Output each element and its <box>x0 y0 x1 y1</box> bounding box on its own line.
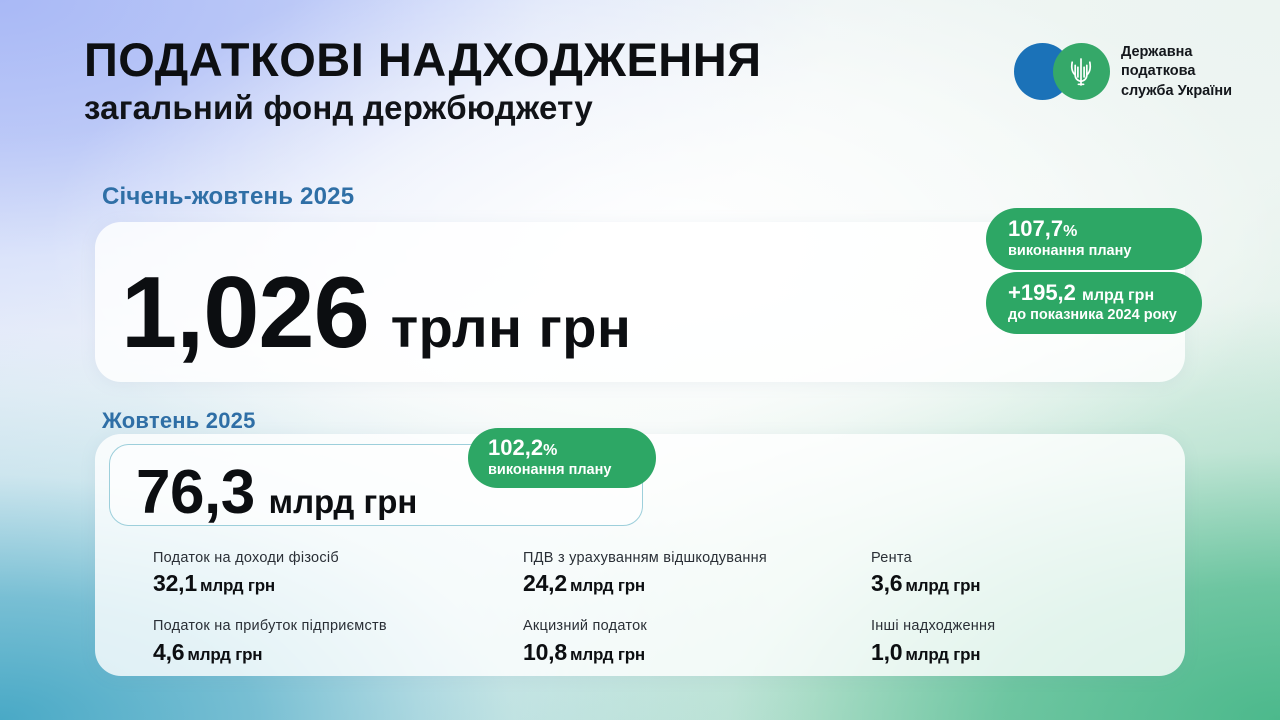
breakdown-label: Податок на прибуток підприємств <box>153 618 513 635</box>
october-plan-execution-badge: 102,2% виконання плану <box>468 428 656 488</box>
organization-name-line2: податкова <box>1121 62 1232 81</box>
ytd-growth-badge: +195,2 млрд грн до показника 2024 року <box>986 272 1202 334</box>
breakdown-number: 1,0 <box>871 639 902 665</box>
october-unit: млрд грн <box>269 483 418 521</box>
breakdown-label: Податок на доходи фізосіб <box>153 550 513 567</box>
ytd-growth-value: +195,2 млрд грн <box>1008 281 1180 305</box>
breakdown-unit: млрд грн <box>570 645 645 664</box>
breakdown-unit: млрд грн <box>570 576 645 595</box>
october-value: 76,3 <box>136 462 255 524</box>
breakdown-number: 4,6 <box>153 639 184 665</box>
ytd-growth-caption: до показника 2024 року <box>1008 307 1180 324</box>
ytd-plan-execution-caption: виконання плану <box>1008 243 1180 260</box>
october-breakdown-grid: Податок на доходи фізосіб 32,1млрд грн П… <box>153 550 1159 665</box>
ytd-plan-execution-number: 107,7 <box>1008 216 1063 241</box>
page-title: ПОДАТКОВІ НАДХОДЖЕННЯ <box>84 36 984 85</box>
breakdown-item: Податок на прибуток підприємств 4,6млрд … <box>153 618 523 665</box>
breakdown-item: Рента 3,6млрд грн <box>871 550 1159 597</box>
breakdown-number: 3,6 <box>871 570 902 596</box>
breakdown-unit: млрд грн <box>905 576 980 595</box>
ytd-growth-number: +195,2 <box>1008 280 1076 305</box>
breakdown-item: Податок на доходи фізосіб 32,1млрд грн <box>153 550 523 597</box>
breakdown-item: Акцизний податок 10,8млрд грн <box>523 618 871 665</box>
organization-name-line1: Державна <box>1121 43 1232 62</box>
breakdown-value: 4,6млрд грн <box>153 640 513 666</box>
breakdown-label: Рента <box>871 550 1149 567</box>
breakdown-label: Інші надходження <box>871 618 1149 635</box>
breakdown-label: ПДВ з урахуванням відшкодування <box>523 550 861 567</box>
organization-name: Державна податкова служба України <box>1121 43 1232 101</box>
october-section-label: Жовтень 2025 <box>102 408 256 434</box>
trident-icon <box>1067 55 1095 89</box>
breakdown-unit: млрд грн <box>905 645 980 664</box>
october-plan-execution-number: 102,2 <box>488 435 543 460</box>
breakdown-unit: млрд грн <box>187 645 262 664</box>
ytd-plan-execution-badge: 107,7% виконання плану <box>986 208 1202 270</box>
organization-logo: Державна податкова служба України <box>1014 43 1232 101</box>
breakdown-number: 24,2 <box>523 570 567 596</box>
breakdown-value: 24,2млрд грн <box>523 571 861 597</box>
ytd-plan-execution-value: 107,7% <box>1008 217 1180 241</box>
organization-name-line3: служба України <box>1121 82 1232 101</box>
ytd-plan-execution-suffix: % <box>1063 223 1077 240</box>
page-subtitle: загальний фонд держбюджету <box>84 90 984 126</box>
breakdown-item: ПДВ з урахуванням відшкодування 24,2млрд… <box>523 550 871 597</box>
breakdown-item: Інші надходження 1,0млрд грн <box>871 618 1159 665</box>
ytd-section-label: Січень-жовтень 2025 <box>102 183 354 211</box>
infographic-page: ПОДАТКОВІ НАДХОДЖЕННЯ загальний фонд дер… <box>0 0 1280 720</box>
october-plan-execution-suffix: % <box>543 442 557 459</box>
breakdown-value: 10,8млрд грн <box>523 640 861 666</box>
ytd-unit: трлн грн <box>391 295 632 360</box>
breakdown-value: 32,1млрд грн <box>153 571 513 597</box>
ytd-value: 1,026 <box>121 267 369 360</box>
breakdown-label: Акцизний податок <box>523 618 861 635</box>
october-plan-execution-caption: виконання плану <box>488 462 636 479</box>
breakdown-number: 10,8 <box>523 639 567 665</box>
breakdown-unit: млрд грн <box>200 576 275 595</box>
logo-green-circle-icon <box>1053 43 1110 100</box>
ytd-growth-unit: млрд грн <box>1082 287 1154 304</box>
page-header: ПОДАТКОВІ НАДХОДЖЕННЯ загальний фонд дер… <box>84 36 984 126</box>
breakdown-value: 1,0млрд грн <box>871 640 1149 666</box>
october-plan-execution-value: 102,2% <box>488 436 636 460</box>
breakdown-value: 3,6млрд грн <box>871 571 1149 597</box>
logo-marks <box>1014 43 1110 100</box>
ytd-figure: 1,026 трлн грн <box>121 267 631 360</box>
breakdown-number: 32,1 <box>153 570 197 596</box>
